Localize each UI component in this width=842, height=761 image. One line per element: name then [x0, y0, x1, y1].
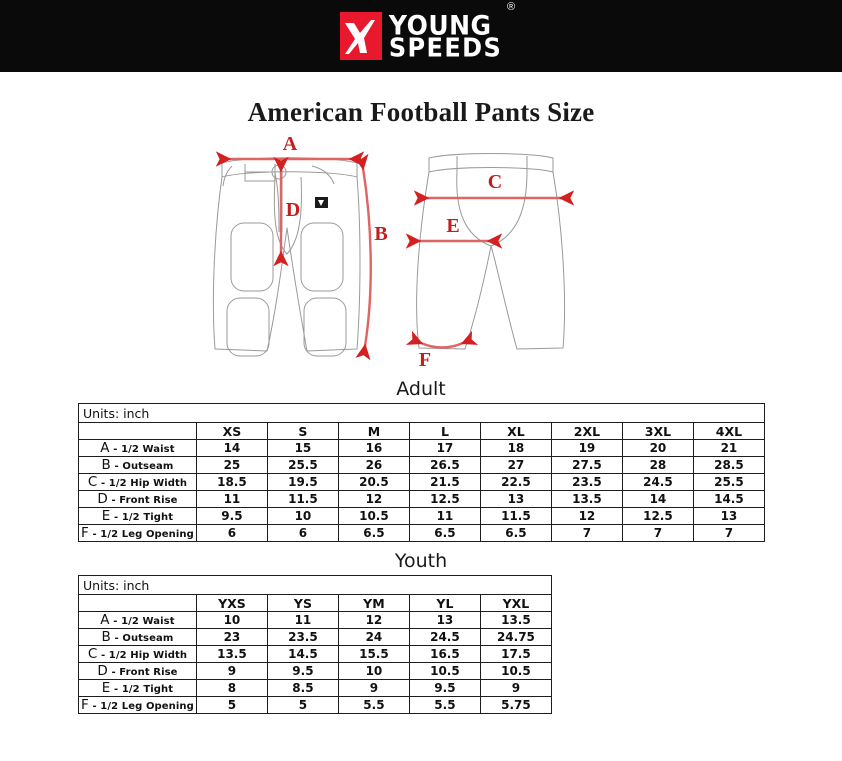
- size-header-xs: XS: [196, 423, 267, 440]
- row-label-d: D - Front Rise: [79, 491, 197, 508]
- row-label-a: A - 1/2 Waist: [79, 612, 197, 629]
- cell: 11: [409, 508, 480, 525]
- cell: 27.5: [551, 457, 622, 474]
- size-header-l: L: [409, 423, 480, 440]
- row-label-f: F - 1/2 Leg Opening: [79, 525, 197, 542]
- size-header-4xl: 4XL: [693, 423, 764, 440]
- size-header-2xl: 2XL: [551, 423, 622, 440]
- cell: 19: [551, 440, 622, 457]
- cell: 10: [196, 612, 267, 629]
- cell: 7: [551, 525, 622, 542]
- cell: 28.5: [693, 457, 764, 474]
- cell: 6.5: [338, 525, 409, 542]
- table-row: B - Outseam 25 25.5 26 26.5 27 27.5 28 2…: [79, 457, 765, 474]
- cell: 22.5: [480, 474, 551, 491]
- cell: 13.5: [196, 646, 267, 663]
- table-row: D - Front Rise 9 9.5 10 10.5 10.5: [79, 663, 552, 680]
- cell: 23: [196, 629, 267, 646]
- cell: 20.5: [338, 474, 409, 491]
- cell: 9: [480, 680, 551, 697]
- size-header-xl: XL: [480, 423, 551, 440]
- cell: 14.5: [693, 491, 764, 508]
- cell: 9.5: [267, 663, 338, 680]
- dimension-label-a: A: [283, 136, 298, 155]
- cell: 7: [622, 525, 693, 542]
- cell: 5.5: [409, 697, 480, 714]
- cell: 13: [480, 491, 551, 508]
- row-label-a: A - 1/2 Waist: [79, 440, 197, 457]
- cell: 14: [196, 440, 267, 457]
- cell: 19.5: [267, 474, 338, 491]
- youngspeeds-swoosh-icon: [340, 12, 382, 60]
- dimension-label-b: B: [374, 223, 387, 245]
- size-header-3xl: 3XL: [622, 423, 693, 440]
- cell: 12.5: [622, 508, 693, 525]
- cell: 13.5: [480, 612, 551, 629]
- measurement-diagram: A B C D E F: [0, 136, 842, 374]
- table-row: F - 1/2 Leg Opening 5 5 5.5 5.5 5.75: [79, 697, 552, 714]
- cell: 12: [338, 491, 409, 508]
- cell: 9.5: [196, 508, 267, 525]
- cell: 25.5: [693, 474, 764, 491]
- cell: 10: [338, 663, 409, 680]
- row-label-c: C - 1/2 Hip Width: [79, 474, 197, 491]
- page-title: American Football Pants Size: [0, 97, 842, 128]
- dimension-label-e: E: [446, 215, 459, 237]
- table-row: E - 1/2 Tight 8 8.5 9 9.5 9: [79, 680, 552, 697]
- cell: 28: [622, 457, 693, 474]
- cell: 12: [338, 612, 409, 629]
- row-label-b: B - Outseam: [79, 457, 197, 474]
- cell: 21.5: [409, 474, 480, 491]
- brand-wordmark: YOUNG SPEEDS ®: [389, 13, 502, 58]
- cell: 12: [551, 508, 622, 525]
- cell: 9: [196, 663, 267, 680]
- cell: 27: [480, 457, 551, 474]
- row-label-e: E - 1/2 Tight: [79, 508, 197, 525]
- size-header-s: S: [267, 423, 338, 440]
- cell: 15: [267, 440, 338, 457]
- cell: 21: [693, 440, 764, 457]
- cell: 13: [409, 612, 480, 629]
- cell: 24.5: [409, 629, 480, 646]
- cell: 25.5: [267, 457, 338, 474]
- units-label: Units: inch: [79, 576, 552, 595]
- cell: 11.5: [267, 491, 338, 508]
- cell: 10.5: [480, 663, 551, 680]
- cell: 10: [267, 508, 338, 525]
- corner-cell: [79, 423, 197, 440]
- cell: 6.5: [480, 525, 551, 542]
- cell: 18.5: [196, 474, 267, 491]
- cell: 26: [338, 457, 409, 474]
- site-header: YOUNG SPEEDS ®: [0, 0, 842, 72]
- size-header-m: M: [338, 423, 409, 440]
- cell: 16.5: [409, 646, 480, 663]
- section-heading-youth: Youth: [0, 550, 842, 572]
- cell: 10.5: [409, 663, 480, 680]
- cell: 11.5: [480, 508, 551, 525]
- size-header-row: XS S M L XL 2XL 3XL 4XL: [79, 423, 765, 440]
- cell: 14.5: [267, 646, 338, 663]
- cell: 8.5: [267, 680, 338, 697]
- cell: 26.5: [409, 457, 480, 474]
- units-label: Units: inch: [79, 404, 765, 423]
- cell: 17: [409, 440, 480, 457]
- cell: 25: [196, 457, 267, 474]
- size-header-row: YXS YS YM YL YXL: [79, 595, 552, 612]
- size-header-yxs: YXS: [196, 595, 267, 612]
- cell: 11: [267, 612, 338, 629]
- size-header-ym: YM: [338, 595, 409, 612]
- cell: 6: [196, 525, 267, 542]
- cell: 16: [338, 440, 409, 457]
- cell: 15.5: [338, 646, 409, 663]
- table-row: D - Front Rise 11 11.5 12 12.5 13 13.5 1…: [79, 491, 765, 508]
- cell: 14: [622, 491, 693, 508]
- cell: 13: [693, 508, 764, 525]
- size-header-yl: YL: [409, 595, 480, 612]
- cell: 5.75: [480, 697, 551, 714]
- table-row: A - 1/2 Waist 14 15 16 17 18 19 20 21: [79, 440, 765, 457]
- football-pants-front-view: [213, 158, 360, 356]
- brand-line-2: SPEEDS: [389, 36, 502, 60]
- cell: 11: [196, 491, 267, 508]
- cell: 24.5: [622, 474, 693, 491]
- cell: 13.5: [551, 491, 622, 508]
- row-label-b: B - Outseam: [79, 629, 197, 646]
- trademark-symbol: ®: [507, 2, 515, 12]
- row-label-f: F - 1/2 Leg Opening: [79, 697, 197, 714]
- row-label-e: E - 1/2 Tight: [79, 680, 197, 697]
- cell: 7: [693, 525, 764, 542]
- cell: 17.5: [480, 646, 551, 663]
- adult-size-table: Units: inch XS S M L XL 2XL 3XL 4XL A - …: [78, 403, 765, 542]
- table-row: B - Outseam 23 23.5 24 24.5 24.75: [79, 629, 552, 646]
- size-header-ys: YS: [267, 595, 338, 612]
- cell: 5: [196, 697, 267, 714]
- cell: 24.75: [480, 629, 551, 646]
- cell: 23.5: [551, 474, 622, 491]
- units-row: Units: inch: [79, 576, 552, 595]
- units-row: Units: inch: [79, 404, 765, 423]
- table-row: C - 1/2 Hip Width 13.5 14.5 15.5 16.5 17…: [79, 646, 552, 663]
- corner-cell: [79, 595, 197, 612]
- table-row: A - 1/2 Waist 10 11 12 13 13.5: [79, 612, 552, 629]
- row-label-d: D - Front Rise: [79, 663, 197, 680]
- dimension-label-f: F: [419, 349, 431, 371]
- cell: 5: [267, 697, 338, 714]
- dimension-label-d: D: [286, 199, 300, 221]
- cell: 9.5: [409, 680, 480, 697]
- cell: 6.5: [409, 525, 480, 542]
- table-row: C - 1/2 Hip Width 18.5 19.5 20.5 21.5 22…: [79, 474, 765, 491]
- cell: 18: [480, 440, 551, 457]
- table-row: F - 1/2 Leg Opening 6 6 6.5 6.5 6.5 7 7 …: [79, 525, 765, 542]
- cell: 6: [267, 525, 338, 542]
- size-header-yxl: YXL: [480, 595, 551, 612]
- cell: 9: [338, 680, 409, 697]
- cell: 5.5: [338, 697, 409, 714]
- cell: 8: [196, 680, 267, 697]
- dimension-arrow-f: [421, 343, 463, 348]
- cell: 10.5: [338, 508, 409, 525]
- cell: 20: [622, 440, 693, 457]
- youth-size-table: Units: inch YXS YS YM YL YXL A - 1/2 Wai…: [78, 575, 552, 714]
- row-label-c: C - 1/2 Hip Width: [79, 646, 197, 663]
- table-row: E - 1/2 Tight 9.5 10 10.5 11 11.5 12 12.…: [79, 508, 765, 525]
- brand-logo: YOUNG SPEEDS ®: [340, 12, 502, 60]
- dimension-label-c: C: [488, 171, 502, 193]
- section-heading-adult: Adult: [0, 378, 842, 400]
- cell: 12.5: [409, 491, 480, 508]
- cell: 24: [338, 629, 409, 646]
- dimension-arrow-b: [363, 168, 371, 346]
- cell: 23.5: [267, 629, 338, 646]
